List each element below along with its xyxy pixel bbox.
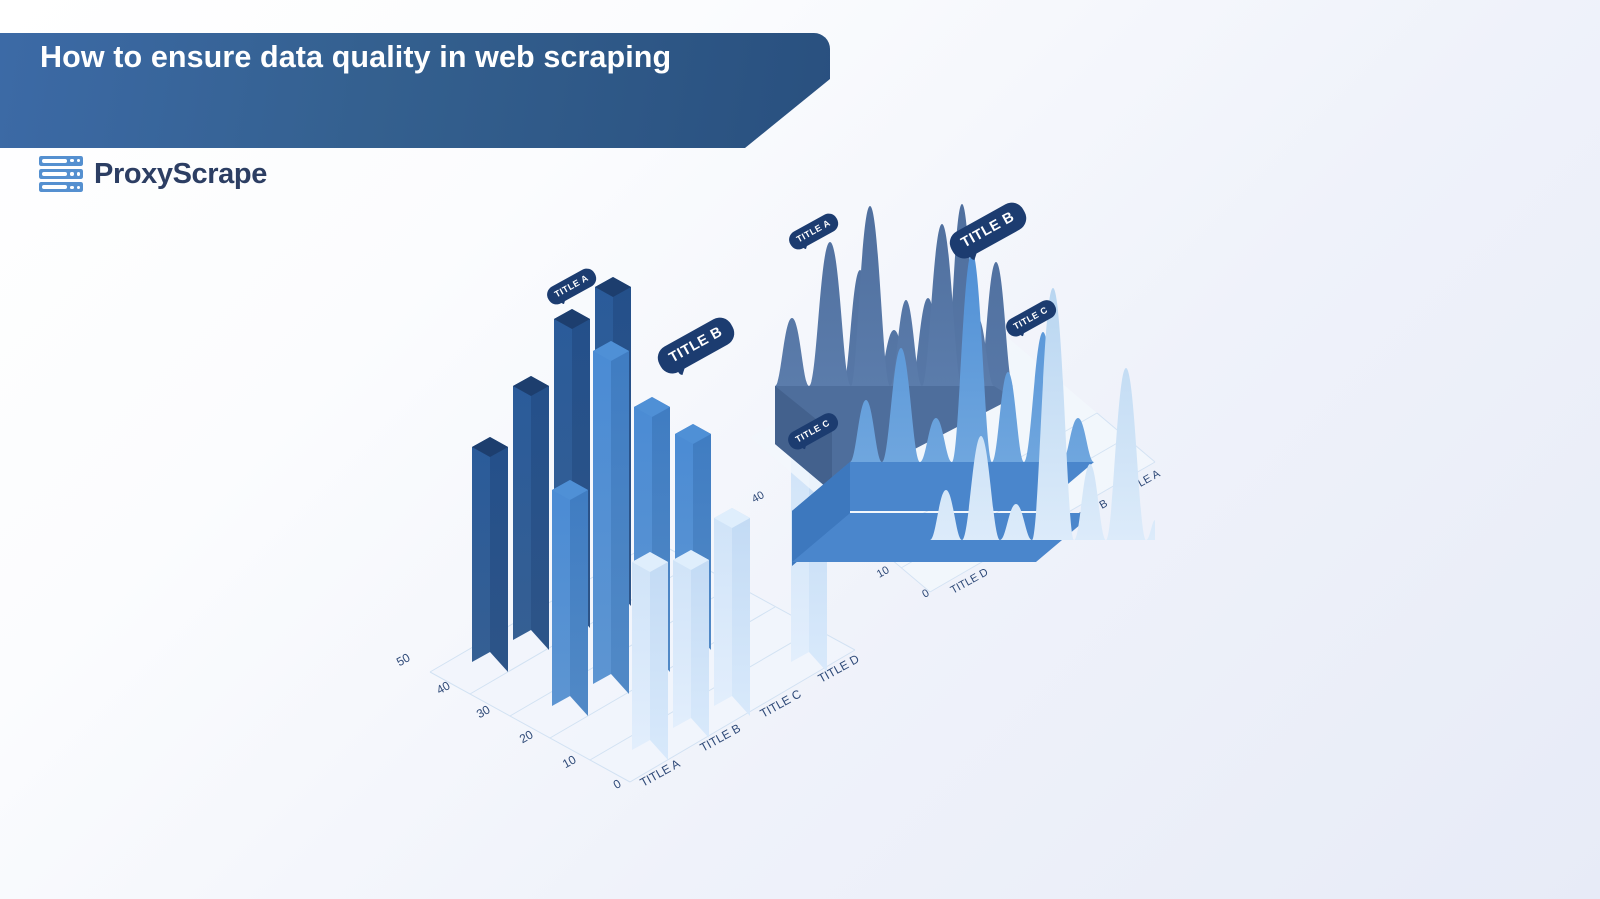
bar-mid-title-b [593,341,629,694]
bar-mid-title-a [552,480,588,716]
bar-front-title-a [632,552,668,760]
ridge-area-chart-3d: 40 20 10 0 TITLE D TITLE C TITLE B TITLE… [734,204,1163,601]
bar-tick-10: 10 [560,752,579,771]
bar-tick-20: 20 [517,727,536,746]
bar-front-title-c [714,508,750,716]
bar-front-title-b [673,550,709,738]
bar-back-title-b [513,376,549,650]
ridge-tick-10: 10 [875,564,892,580]
bar-tick-50: 50 [394,650,413,669]
ridge-tick-40: 40 [750,489,767,505]
bar-tick-0: 0 [611,776,624,792]
bar-back-title-a [472,437,508,672]
chart-illustration: 50 40 30 20 10 0 TITLE A TITLE B TITLE C… [0,0,1600,899]
